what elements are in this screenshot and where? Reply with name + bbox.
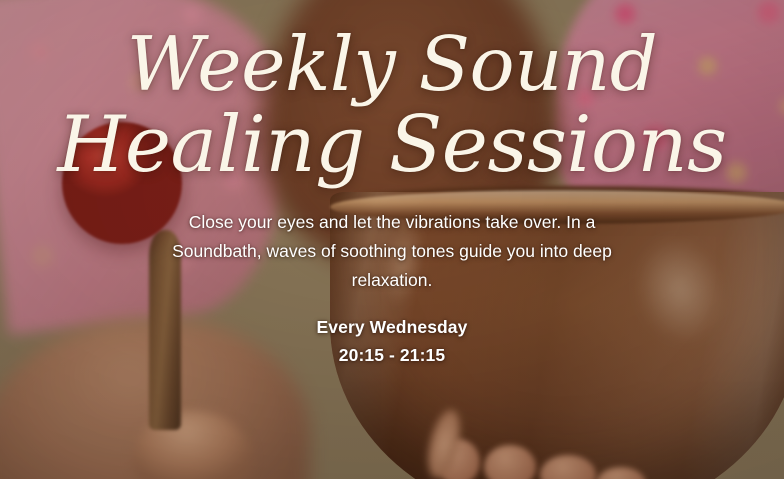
schedule-day: Every Wednesday (317, 314, 468, 342)
headline-line-2: Healing Sessions (0, 104, 784, 187)
poster-content: Weekly Sound Healing Sessions Close your… (0, 0, 784, 479)
description-text: Close your eyes and let the vibrations t… (162, 188, 622, 296)
sound-healing-poster: Weekly Sound Healing Sessions Close your… (0, 0, 784, 479)
schedule-time: 20:15 - 21:15 (317, 342, 468, 370)
schedule-block: Every Wednesday 20:15 - 21:15 (317, 296, 468, 369)
page-title: Weekly Sound Healing Sessions (0, 0, 784, 188)
headline-line-1: Weekly Sound (0, 24, 784, 104)
